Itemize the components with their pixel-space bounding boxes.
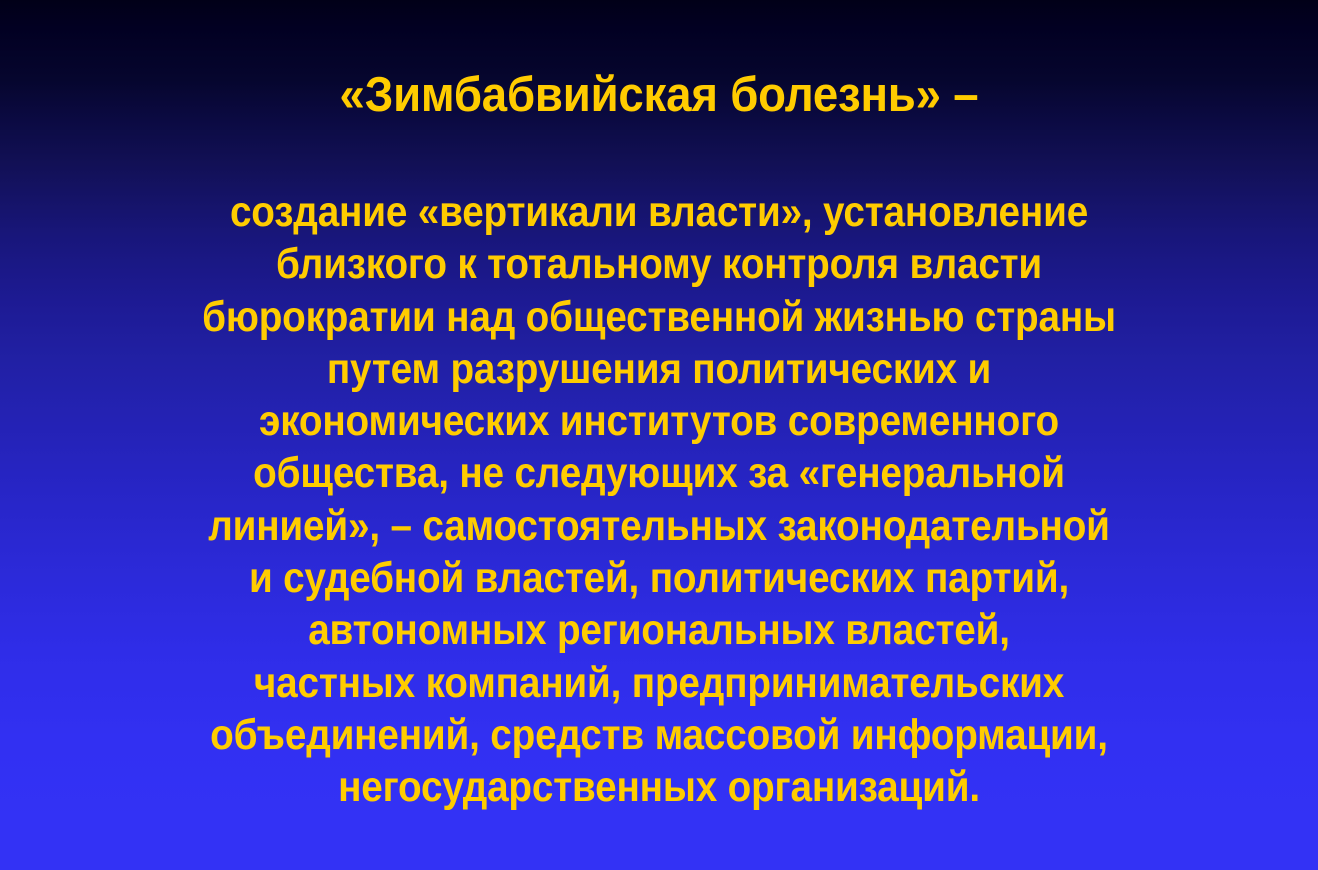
- body-line: близкого к тотальному контроля власти: [66, 238, 1252, 290]
- body-line: путем разрушения политических и: [66, 343, 1252, 395]
- body-line: бюрократии над общественной жизнью стран…: [66, 291, 1252, 343]
- body-line: создание «вертикали власти», установлени…: [66, 186, 1252, 238]
- body-line: автономных региональных властей,: [66, 604, 1252, 656]
- body-line: общества, не следующих за «генеральной: [66, 447, 1252, 499]
- slide-body-block: создание «вертикали власти», установлени…: [0, 186, 1318, 814]
- slide-title: «Зимбабвийская болезнь» –: [46, 66, 1272, 124]
- slide-content-area: «Зимбабвийская болезнь» – создание «верт…: [0, 0, 1318, 870]
- slide-title-block: «Зимбабвийская болезнь» –: [0, 66, 1318, 124]
- body-line: экономических институтов современного: [66, 395, 1252, 447]
- body-line: объединений, средств массовой информации…: [66, 709, 1252, 761]
- body-line: негосударственных организаций.: [66, 761, 1252, 813]
- presentation-slide: «Зимбабвийская болезнь» – создание «верт…: [0, 0, 1318, 870]
- body-line: линией», – самостоятельных законодательн…: [66, 500, 1252, 552]
- body-line: и судебной властей, политических партий,: [66, 552, 1252, 604]
- body-line: частных компаний, предпринимательских: [66, 657, 1252, 709]
